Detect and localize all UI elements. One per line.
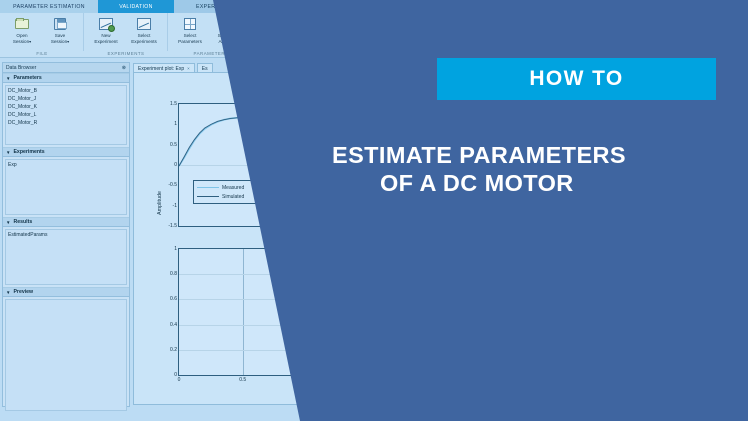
chevron-down-icon[interactable]: ▾ — [29, 39, 31, 44]
y-tick-label: 1 — [174, 121, 177, 127]
select-parameters-icon — [181, 16, 199, 32]
x-tick-label: 0 — [178, 377, 181, 383]
preview-pane[interactable] — [5, 299, 127, 411]
tab-label: Experiment plot: Exp — [138, 66, 184, 72]
ribbon-group-file: Open Session▾ Save Session▾ FILE — [0, 13, 84, 51]
legend-label: Simulated — [222, 194, 244, 200]
section-header-preview[interactable]: ▼ Preview — [3, 287, 129, 297]
list-item[interactable]: DC_Motor_R — [8, 119, 124, 127]
y-tick-label: 1 — [174, 246, 177, 252]
ribbon-tab-validation[interactable]: VALIDATION — [98, 0, 174, 13]
list-item[interactable]: EstimatedParams — [8, 231, 124, 239]
x-tick-label: 0.5 — [239, 377, 246, 383]
legend-swatch — [197, 187, 219, 188]
y-tick-label: 1.5 — [170, 101, 177, 107]
close-icon[interactable]: × — [187, 66, 190, 71]
list-item[interactable]: DC_Motor_J — [8, 95, 124, 103]
legend-label: Measured — [222, 185, 244, 191]
select-experiments-icon — [135, 16, 153, 32]
data-browser-panel: Data Browser ⊗ ▼ Parameters DC_Motor_B D… — [2, 62, 130, 407]
y-tick-label: 0.2 — [170, 347, 177, 353]
save-session-label-2: Session▾ — [51, 39, 69, 45]
close-icon[interactable]: ⊗ — [122, 65, 126, 71]
y-tick-label: -0.5 — [168, 182, 177, 188]
chevron-down-icon[interactable]: ▼ — [6, 290, 10, 295]
y-tick-label: 0.5 — [170, 142, 177, 148]
y-tick-label: 0.8 — [170, 271, 177, 277]
ribbon-group-label-file: FILE — [0, 51, 84, 56]
how-to-badge-label: HOW TO — [529, 67, 623, 91]
new-experiment-button[interactable]: New Experiment — [87, 14, 125, 51]
select-parameters-button[interactable]: Select Parameters — [171, 14, 209, 51]
data-browser-titlebar: Data Browser ⊗ — [3, 63, 129, 73]
y-tick-label: -1.5 — [168, 223, 177, 229]
select-experiments-button[interactable]: Select Experiments — [125, 14, 163, 51]
chevron-down-icon[interactable]: ▼ — [6, 76, 10, 81]
section-title-preview: Preview — [13, 289, 33, 295]
screenshot-root: PARAMETER ESTIMATION VALIDATION EXPERIME… — [0, 0, 748, 421]
results-list[interactable]: EstimatedParams — [5, 229, 127, 285]
list-item[interactable]: DC_Motor_B — [8, 87, 124, 95]
list-item[interactable]: DC_Motor_K — [8, 103, 124, 111]
y-tick-label: -1 — [173, 203, 177, 209]
y-tick-label: 0.6 — [170, 296, 177, 302]
section-title-results: Results — [13, 219, 32, 225]
list-item[interactable]: Exp — [8, 161, 124, 169]
chevron-down-icon[interactable]: ▼ — [6, 220, 10, 225]
y-tick-label: 0 — [174, 372, 177, 378]
ribbon-tab-parameter-estimation[interactable]: PARAMETER ESTIMATION — [0, 0, 98, 13]
chevron-down-icon[interactable]: ▼ — [6, 150, 10, 155]
y-axis-label: Amplitude — [157, 191, 163, 215]
section-title-parameters: Parameters — [13, 75, 41, 81]
section-header-results[interactable]: ▼ Results — [3, 217, 129, 227]
open-session-label-2: Session▾ — [13, 39, 31, 45]
ribbon-group-label-experiments: EXPERIMENTS — [84, 51, 168, 56]
ribbon-group-experiments: New Experiment Select Experiments EXPERI… — [84, 13, 168, 51]
y-tick-label: 0 — [174, 162, 177, 168]
section-header-experiments[interactable]: ▼ Experiments — [3, 147, 129, 157]
new-experiment-label-2: Experiment — [94, 39, 117, 45]
promo-headline-line1: ESTIMATE PARAMETERS — [332, 142, 626, 169]
gridline — [243, 249, 244, 375]
tab-label: Es — [202, 66, 208, 72]
folder-open-icon — [13, 16, 31, 32]
open-session-button[interactable]: Open Session▾ — [3, 14, 41, 51]
list-item[interactable]: DC_Motor_L — [8, 111, 124, 119]
how-to-badge: HOW TO — [437, 58, 716, 100]
select-experiments-label-2: Experiments — [131, 39, 157, 45]
save-session-button[interactable]: Save Session▾ — [41, 14, 79, 51]
promo-headline-line2: OF A DC MOTOR — [380, 170, 574, 197]
y-tick-label: 0.4 — [170, 322, 177, 328]
chevron-down-icon[interactable]: ▾ — [67, 39, 69, 44]
parameters-list[interactable]: DC_Motor_B DC_Motor_J DC_Motor_K DC_Moto… — [5, 85, 127, 145]
select-parameters-label-2: Parameters — [178, 39, 202, 45]
save-disk-icon — [51, 16, 69, 32]
data-browser-title: Data Browser — [6, 65, 36, 71]
section-title-experiments: Experiments — [13, 149, 44, 155]
section-header-parameters[interactable]: ▼ Parameters — [3, 73, 129, 83]
new-experiment-icon — [97, 16, 115, 32]
legend-swatch — [197, 196, 219, 197]
experiments-list[interactable]: Exp — [5, 159, 127, 215]
